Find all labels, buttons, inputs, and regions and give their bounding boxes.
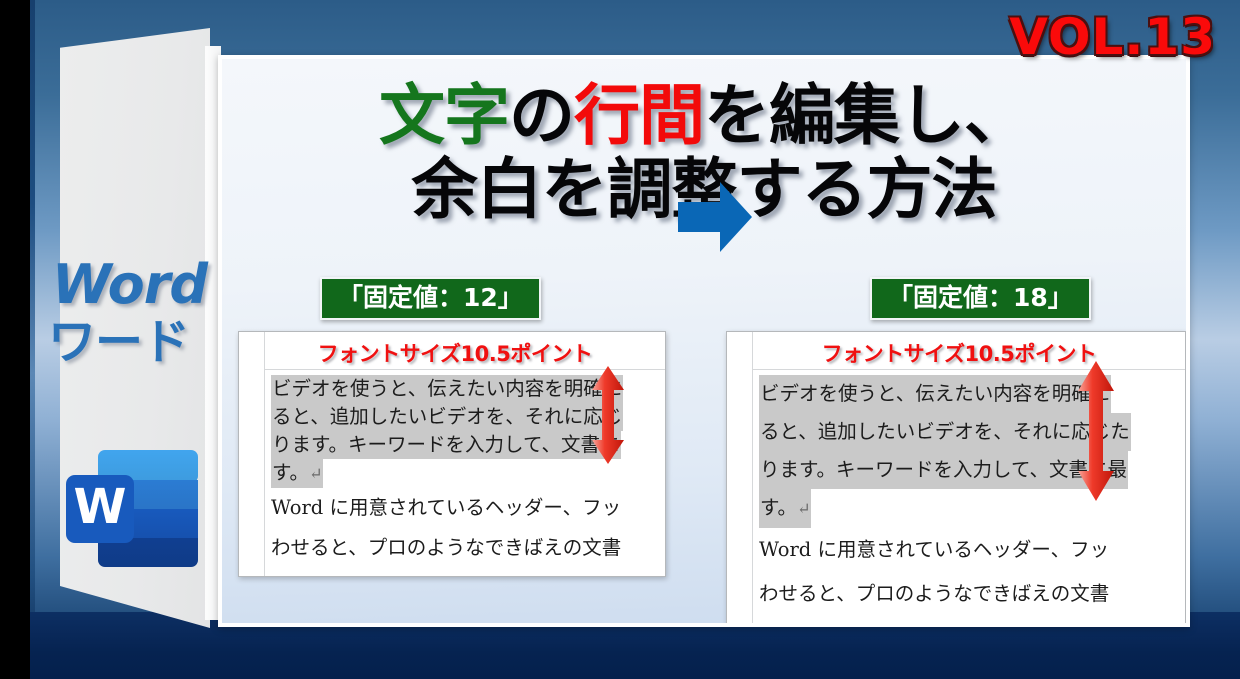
pilcrow-mark: ↵: [309, 464, 322, 483]
doc-line: ると、追加したいビデオを、それに応じ: [271, 403, 623, 431]
doc-line: ります。キーワードを入力して、文書に最: [759, 451, 1128, 489]
word-logo-letter: W: [74, 479, 127, 535]
document-before-paragraph-2: Word に用意されているヘッダー、フッ わせると、プロのようなできばえの文書: [271, 488, 665, 568]
doc-line: ると、追加したいビデオを、それに応じた: [759, 413, 1131, 451]
pilcrow-mark: ↵: [797, 499, 810, 518]
right-arrow-icon: [678, 182, 752, 252]
doc-line: ビデオを使うと、伝えたい内容を明確に: [759, 375, 1111, 413]
brand-app-name-jp: ワード: [48, 318, 189, 366]
document-after: フォントサイズ10.5ポイント ビデオを使うと、伝えたい内容を明確に ると、追加…: [726, 331, 1186, 623]
document-after-title: フォントサイズ10.5ポイント: [759, 332, 1185, 373]
doc-line: わせると、プロのようなできばえの文書: [759, 572, 1185, 616]
volume-badge: VOL.13: [1009, 8, 1216, 66]
vertical-double-arrow-icon: [590, 366, 626, 464]
badge-fixed-value-12: 「固定値：12」: [320, 277, 541, 320]
slide-canvas: Word ワード W: [0, 0, 1240, 679]
doc-line: す。: [760, 496, 797, 519]
document-margin-column: [239, 332, 265, 576]
doc-line: Word に用意されているヘッダー、フッ: [271, 488, 665, 528]
title-line-1: 文字の行間を編集し、: [222, 79, 1186, 153]
badge-fixed-value-18: 「固定値：18」: [870, 277, 1091, 320]
background-left-edge: [30, 0, 35, 679]
brand-app-name: Word: [52, 258, 207, 312]
doc-line: す。: [272, 461, 309, 484]
word-logo: W: [64, 440, 204, 580]
title-seg-1: 文字: [379, 77, 509, 154]
document-margin-column: [727, 332, 753, 623]
doc-line: わせると、プロのようなできばえの文書: [271, 528, 665, 568]
doc-line: Word に用意されているヘッダー、フッ: [759, 528, 1185, 572]
content-panel: 文字の行間を編集し、 余白を調整する方法 「固定値：12」 「固定値：18」 フ…: [218, 55, 1190, 627]
document-after-paragraph-1: ビデオを使うと、伝えたい内容を明確に ると、追加したいビデオを、それに応じた り…: [759, 375, 1185, 528]
doc-line: ビデオを使うと、伝えたい内容を明確に: [271, 375, 623, 403]
title-seg-2: の: [509, 77, 574, 154]
title-seg-4: を編集し、: [704, 77, 1029, 154]
doc-line: ります。キーワードを入力して、文書に: [271, 431, 621, 459]
document-after-paragraph-2: Word に用意されているヘッダー、フッ わせると、プロのようなできばえの文書: [759, 528, 1185, 616]
vertical-double-arrow-icon: [1076, 361, 1116, 501]
title-seg-3: 行間: [574, 77, 704, 154]
